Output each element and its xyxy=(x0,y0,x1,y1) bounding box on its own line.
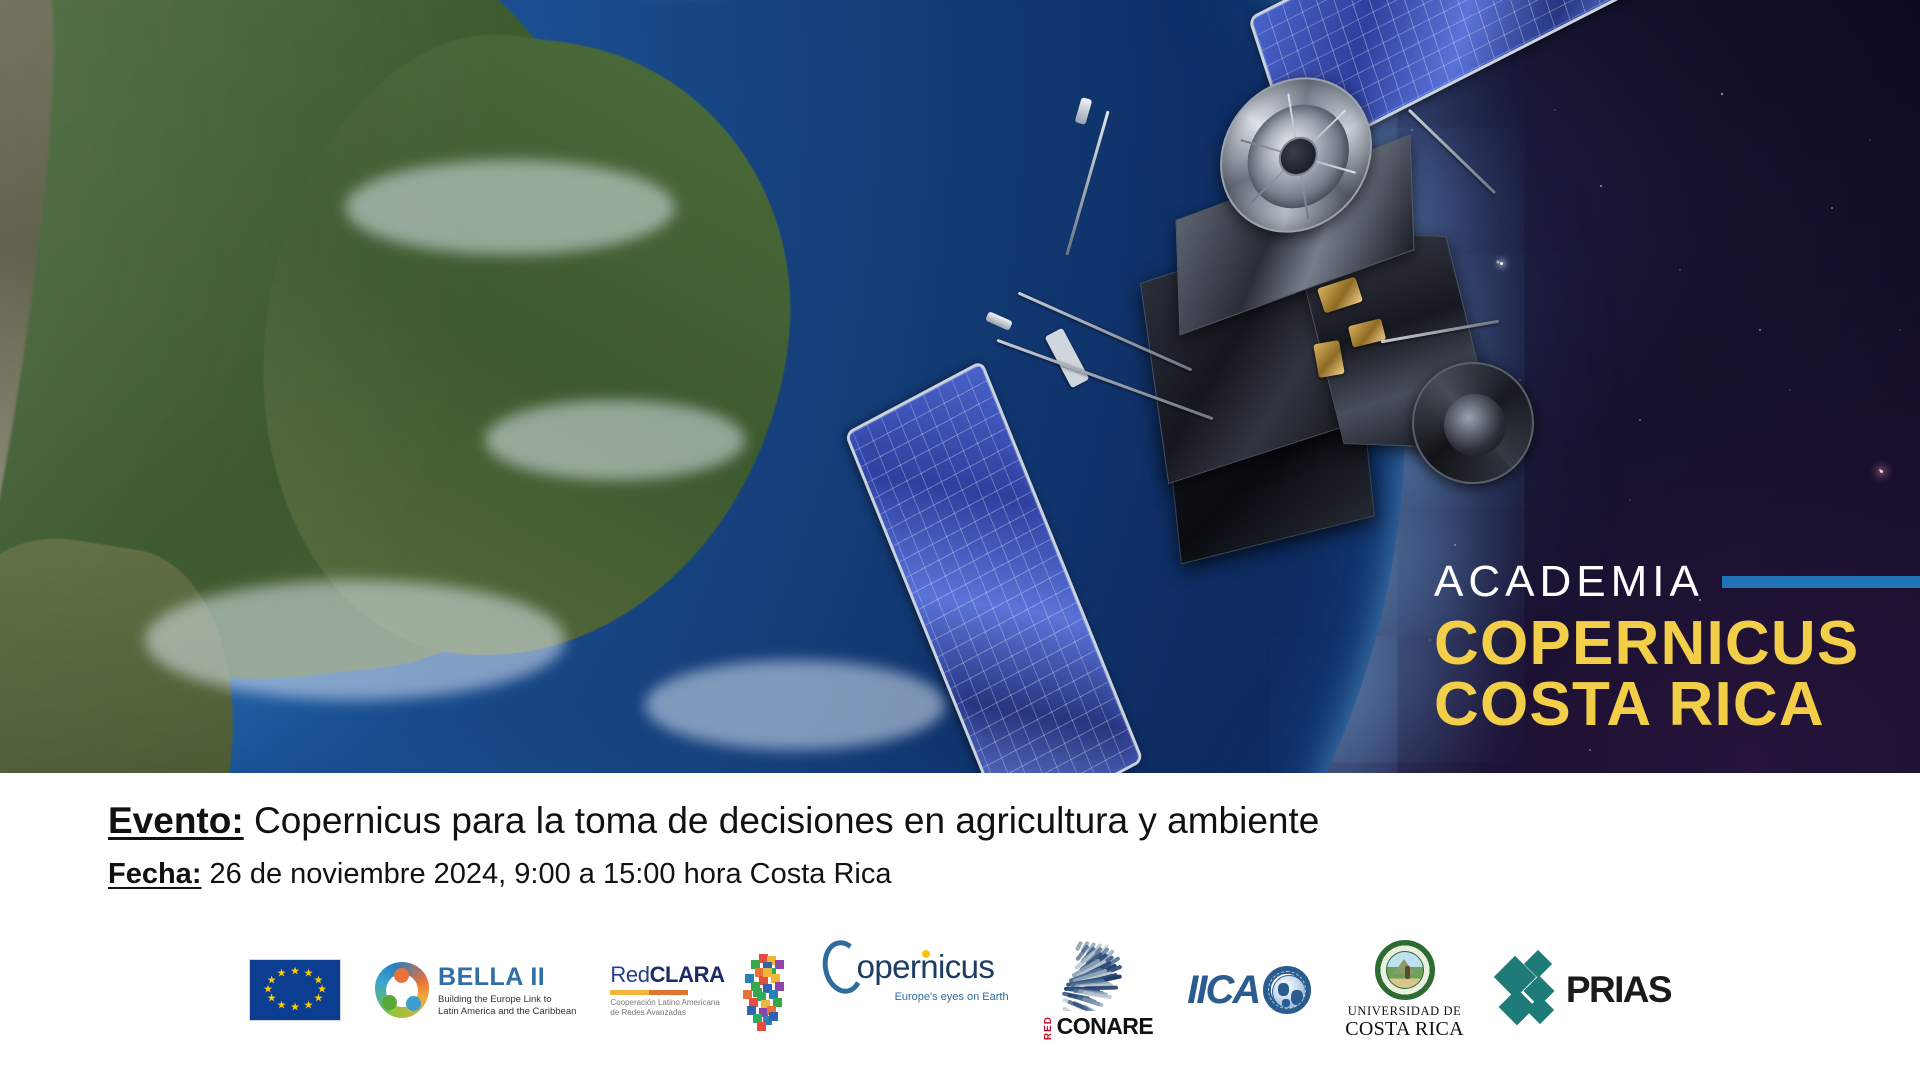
eu-star: ★ xyxy=(277,1000,287,1011)
title-accent-rule xyxy=(1722,576,1920,588)
eu-star: ★ xyxy=(304,1000,314,1011)
redclara-map-pixel xyxy=(757,1022,766,1031)
ucr-seal-icon xyxy=(1375,940,1435,1000)
redclara-tagline-2: de Redes Avanzadas xyxy=(610,1008,724,1018)
antenna-mast xyxy=(1065,110,1109,255)
event-text: Copernicus para la toma de decisiones en… xyxy=(254,800,1319,841)
date-line: Fecha: 26 de noviembre 2024, 9:00 a 15:0… xyxy=(108,858,892,891)
eu-star: ★ xyxy=(290,1003,300,1014)
eu-star: ★ xyxy=(313,994,323,1005)
bella-tagline-2: Latin America and the Caribbean xyxy=(438,1006,576,1018)
logo-copernicus: opernicus Europe's eyes on Earth xyxy=(823,940,1009,1040)
conare-globe-icon xyxy=(1060,940,1136,1011)
redclara-map-pixel xyxy=(753,988,762,997)
prias-diamond-icon xyxy=(1498,954,1564,1026)
prias-title: PRIAS xyxy=(1566,969,1671,1011)
redclara-title-clara: CLARA xyxy=(650,962,725,987)
bright-star-pink xyxy=(1880,470,1883,473)
eu-star: ★ xyxy=(267,976,277,987)
iica-seal-ring xyxy=(1268,971,1306,1009)
logo-prias: PRIAS xyxy=(1498,940,1671,1040)
logo-redclara: RedCLARA Cooperación Latino Americana de… xyxy=(610,940,788,1040)
redclara-tagline-1: Cooperación Latino Americana xyxy=(610,998,724,1008)
copernicus-title: opernicus xyxy=(857,948,995,986)
logo-iica: IICA xyxy=(1187,940,1311,1040)
secondary-reflector-core xyxy=(1444,394,1506,456)
redclara-map-pixel xyxy=(763,968,772,977)
eu-flag-icon: ★★★★★★★★★★★★ xyxy=(249,959,341,1021)
logo-bella-ii: BELLA II Building the Europe Link to Lat… xyxy=(375,940,576,1040)
eu-star: ★ xyxy=(304,969,314,980)
ucr-title-line1: UNIVERSIDAD DE xyxy=(1348,1004,1462,1019)
hero-banner: ACADEMIA COPERNICUS COSTA RICA xyxy=(0,0,1920,773)
title-copernicus: COPERNICUS xyxy=(1434,612,1920,675)
eu-star: ★ xyxy=(277,969,287,980)
logo-red-conare: RED CONARE xyxy=(1043,940,1154,1040)
logo-universidad-costa-rica: UNIVERSIDAD DE COSTA RICA xyxy=(1345,940,1464,1040)
bella-mark-icon xyxy=(375,962,429,1018)
bella-text: BELLA II Building the Europe Link to Lat… xyxy=(438,963,576,1018)
support-strut xyxy=(1408,109,1496,195)
date-text: 26 de noviembre 2024, 9:00 a 15:00 hora … xyxy=(210,858,892,890)
iica-title: IICA xyxy=(1187,968,1259,1013)
conare-prefix: RED xyxy=(1043,1016,1054,1040)
redclara-map-pixel xyxy=(769,1012,778,1021)
academia-row: ACADEMIA xyxy=(1434,560,1920,604)
title-costa-rica: COSTA RICA xyxy=(1434,673,1920,736)
date-label: Fecha: xyxy=(108,858,201,890)
event-line: Evento: Copernicus para la toma de decis… xyxy=(108,800,1319,842)
gold-thermal-foil xyxy=(1313,340,1345,378)
conare-globe-stroke xyxy=(1062,1006,1074,1011)
redclara-title-red: Red xyxy=(610,962,649,987)
poster-root: ACADEMIA COPERNICUS COSTA RICA Evento: C… xyxy=(0,0,1920,1080)
redclara-text: RedCLARA Cooperación Latino Americana de… xyxy=(610,962,724,1018)
redclara-pixel-map-icon xyxy=(733,954,789,1026)
event-label: Evento: xyxy=(108,800,244,841)
antenna-tip xyxy=(1075,97,1093,125)
ucr-seal-scene xyxy=(1386,951,1424,989)
copernicus-yellow-dot xyxy=(922,950,930,958)
prias-diamond xyxy=(1526,996,1554,1024)
sponsor-logo-strip: ★★★★★★★★★★★★ BELLA II Building the Europ… xyxy=(0,930,1920,1050)
iica-seal-icon xyxy=(1263,966,1311,1014)
conare-title: CONARE xyxy=(1057,1013,1154,1040)
logo-european-union: ★★★★★★★★★★★★ xyxy=(249,940,341,1040)
title-academia: ACADEMIA xyxy=(1434,560,1704,604)
hero-title-block: ACADEMIA COPERNICUS COSTA RICA xyxy=(1434,560,1920,736)
ucr-title-line2: COSTA RICA xyxy=(1345,1019,1464,1040)
redclara-underline xyxy=(610,990,688,995)
secondary-reflector xyxy=(1412,362,1534,484)
bella-title: BELLA II xyxy=(438,963,576,992)
bella-tagline-1: Building the Europe Link to xyxy=(438,994,576,1006)
copernicus-tagline: Europe's eyes on Earth xyxy=(895,991,1009,1003)
eu-star: ★ xyxy=(290,967,300,978)
redclara-map-pixel xyxy=(775,960,784,969)
